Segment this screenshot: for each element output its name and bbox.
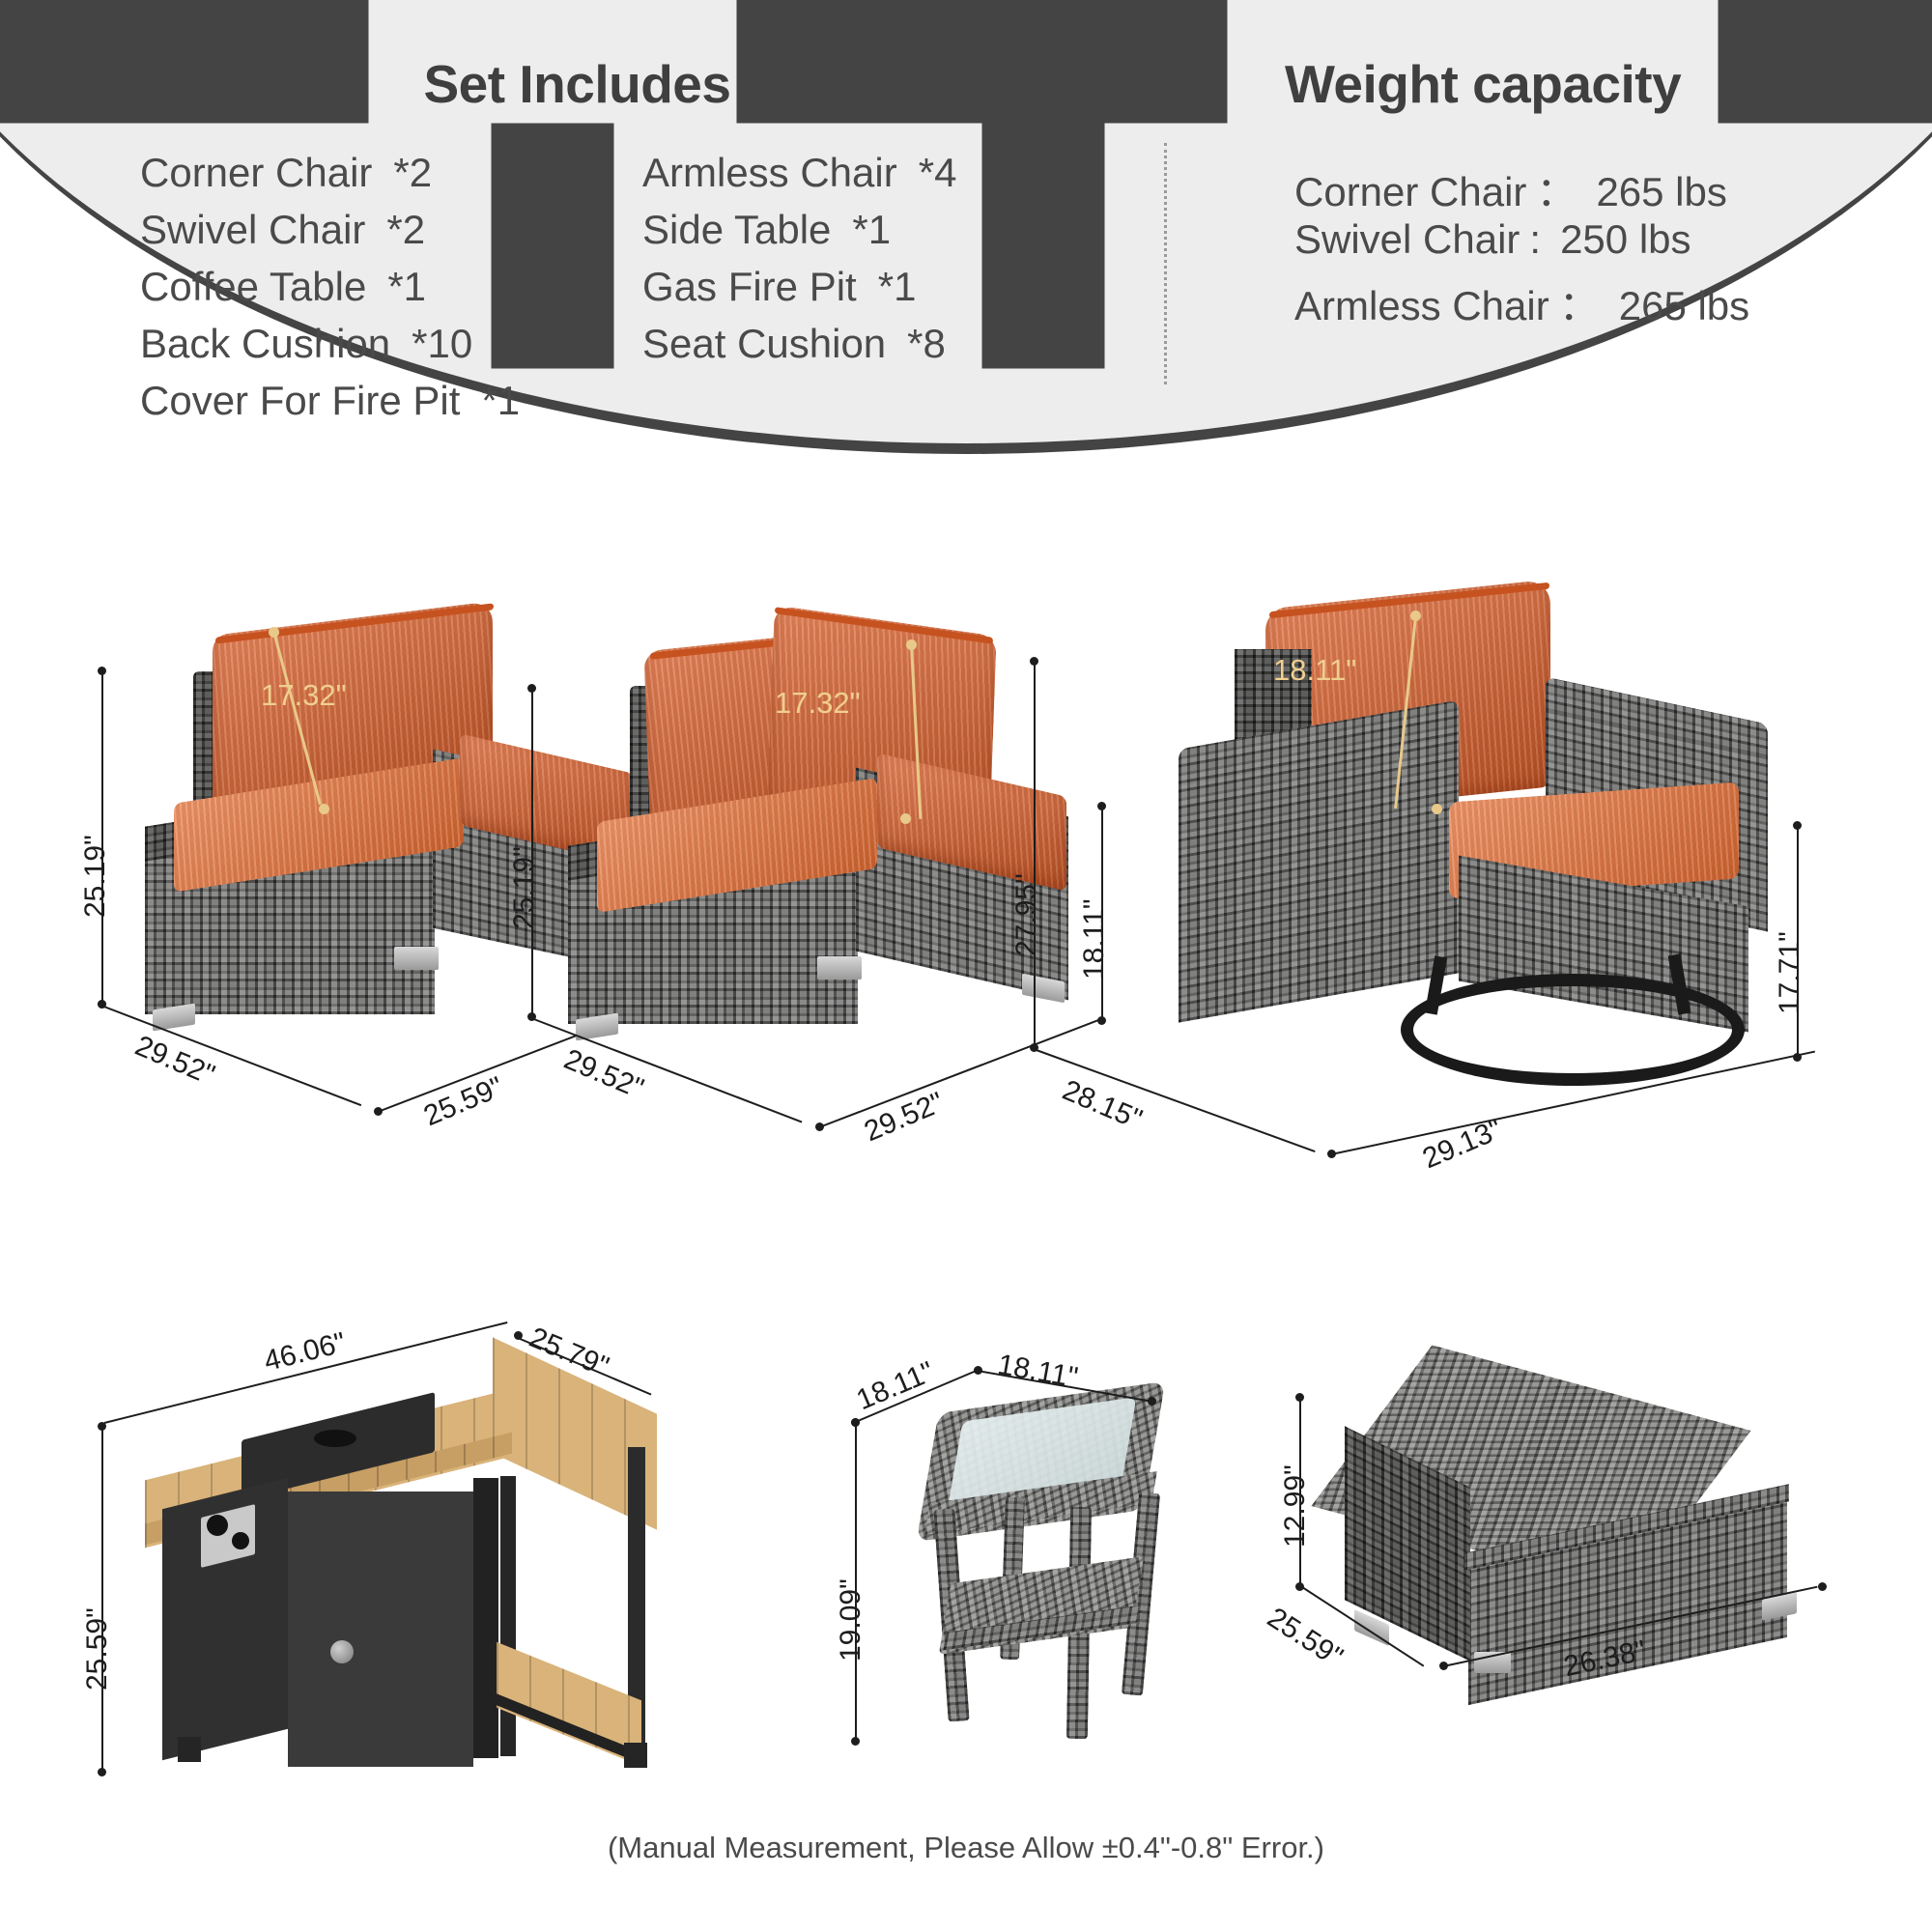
list-item: Back Cushion *10 (140, 321, 526, 378)
list-item: Armless Chair *4 (642, 150, 1029, 207)
cushion-dimension-label: 17.32" (261, 678, 347, 713)
list-item: Seat Cushion *8 (642, 321, 1029, 378)
set-includes-title: Set Includes (0, 53, 1154, 115)
dimension-label-height: 27.95" (1010, 873, 1043, 956)
item-value: 250 lbs (1560, 216, 1690, 263)
dim-line-height (101, 1426, 103, 1772)
item-label: Coffee Table (140, 264, 366, 310)
set-includes-lists: Corner Chair *2 Swivel Chair *2 Coffee T… (140, 150, 1154, 435)
item-qty: *1 (387, 264, 426, 310)
item-label: Armless Chair (642, 150, 897, 196)
swivel-base-ring (1401, 974, 1745, 1086)
burner-port (314, 1430, 356, 1447)
cushion-dimension-label: 18.11" (1273, 653, 1356, 688)
cushion-dim-dot (1432, 804, 1442, 814)
dimension-label-width: 25.59" (419, 1071, 508, 1134)
item-label: Swivel Chair (1294, 216, 1520, 263)
item-label: Side Table (642, 207, 831, 253)
item-label: Gas Fire Pit (642, 264, 857, 310)
list-item: Coffee Table *1 (140, 264, 526, 321)
cabinet-door (288, 1492, 473, 1767)
item-value: 265 lbs (1619, 283, 1749, 329)
item-label: Armless Chair (1294, 283, 1549, 329)
list-item: Swivel Chair *2 (140, 207, 526, 264)
item-qty: *8 (907, 321, 946, 367)
dimension-label-depth: 18.11" (852, 1355, 939, 1417)
item-colon: : (1529, 216, 1541, 263)
dimension-label-seat-height: 17.71" (1774, 931, 1806, 1014)
list-item: Corner Chair ： 265 lbs (1294, 159, 1749, 216)
list-item: Corner Chair *2 (140, 150, 526, 207)
item-label: Corner Chair (140, 150, 372, 196)
dimension-label-depth: 29.52" (130, 1030, 219, 1093)
dimension-label-depth: 29.52" (559, 1043, 648, 1106)
dimension-label-height: 25.19" (79, 835, 112, 918)
dimension-label-height: 25.59" (81, 1607, 114, 1690)
product-coffee-table: 12.99" 25.59" 26.38" (1285, 1343, 1884, 1787)
list-item: Side Table *1 (642, 207, 1029, 264)
dimension-label-width: 46.06" (261, 1326, 349, 1378)
list-item: Swivel Chair : 250 lbs (1294, 216, 1749, 273)
product-diagram-grid: 17.32" 25.19" 18.11" 29.52" 25.59" (0, 522, 1932, 1806)
dimension-label-width: 18.11" (995, 1349, 1080, 1395)
dim-endpoint (1818, 1582, 1827, 1591)
set-includes-column-2: Armless Chair *4 Side Table *1 Gas Fire … (642, 150, 1029, 435)
cushion-dim-dot (319, 804, 329, 814)
dim-endpoint (98, 1768, 106, 1776)
item-qty: *1 (481, 378, 520, 424)
item-colon: ： (1536, 159, 1577, 218)
item-label: Back Cushion (140, 321, 390, 367)
item-colon: ： (1559, 273, 1600, 332)
header-banner: Set Includes Corner Chair *2 Swivel Chai… (0, 0, 1932, 454)
item-qty: *1 (878, 264, 917, 310)
dimension-label-height: 25.19" (508, 846, 541, 929)
list-item: Armless Chair ： 265 lbs (1294, 273, 1749, 330)
chair-foot (394, 947, 439, 970)
item-label: Corner Chair (1294, 169, 1526, 215)
igniter-button (232, 1532, 249, 1549)
item-value: 265 lbs (1596, 169, 1726, 215)
list-item: Gas Fire Pit *1 (642, 264, 1029, 321)
chair-foot (817, 956, 862, 980)
item-qty: *2 (386, 207, 425, 253)
product-gas-fire-pit-table: 25.59" 46.06" 25.79" (87, 1333, 686, 1797)
control-knob (207, 1515, 228, 1536)
item-qty: *10 (412, 321, 472, 367)
table-foot (624, 1743, 647, 1768)
dim-line-height (1034, 661, 1036, 1047)
dim-endpoint (851, 1737, 860, 1746)
header-dotted-divider (1164, 143, 1167, 384)
dimension-label-width: 29.13" (1418, 1114, 1507, 1177)
weight-capacity-title: Weight capacity (1285, 53, 1681, 115)
dimension-label-height: 19.09" (835, 1578, 867, 1662)
item-qty: *1 (852, 207, 891, 253)
dim-endpoint (1148, 1397, 1156, 1406)
door-handle (330, 1640, 354, 1663)
set-includes-column-1: Corner Chair *2 Swivel Chair *2 Coffee T… (140, 150, 526, 435)
dimension-label-height: 12.99" (1279, 1464, 1312, 1548)
item-qty: *2 (393, 150, 432, 196)
item-label: Swivel Chair (140, 207, 365, 253)
cabinet-right-edge (473, 1478, 498, 1758)
item-qty: *4 (919, 150, 957, 196)
cushion-dim-dot (900, 813, 911, 824)
chair-arm-left-side (1179, 736, 1459, 1022)
item-label: Cover For Fire Pit (140, 378, 460, 424)
cushion-dimension-label: 17.32" (775, 686, 861, 721)
product-side-table: 19.09" 18.11" 18.11" (840, 1343, 1285, 1787)
measurement-disclaimer: (Manual Measurement, Please Allow ±0.4"-… (0, 1831, 1932, 1865)
weight-capacity-rows: Corner Chair ： 265 lbs Swivel Chair : 25… (1294, 159, 1749, 330)
list-item: Cover For Fire Pit *1 (140, 378, 526, 435)
item-label: Seat Cushion (642, 321, 886, 367)
product-swivel-chair: 18.11" 27.95" 17.71" 28.15" 29.13" (1024, 541, 1855, 1159)
table-foot (178, 1737, 201, 1762)
